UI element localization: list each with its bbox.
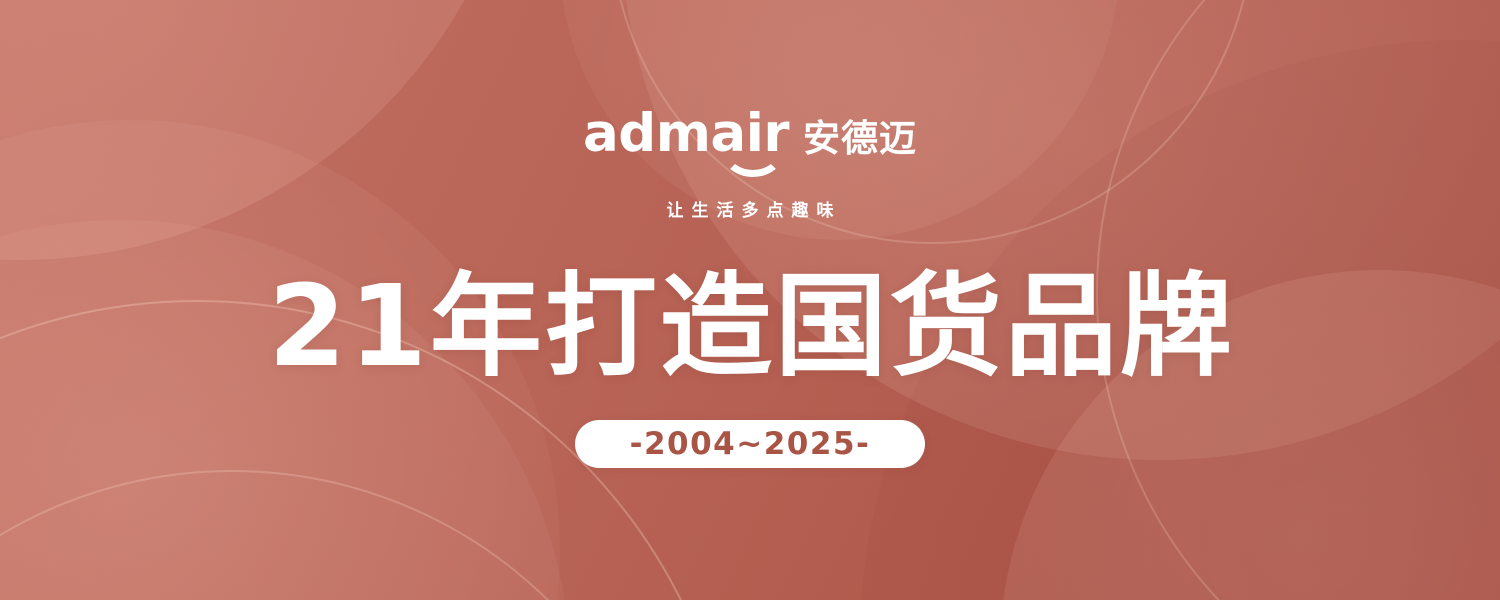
page-title: 21年打造国货品牌 — [265, 271, 1235, 383]
brand-wordmark: admair — [583, 107, 789, 160]
brand-tagline: 让生活多点趣味 — [659, 196, 842, 221]
banner-content: admair 安德迈 让生活多点趣味 21年打造国货品牌 -2004~2025- — [0, 0, 1500, 600]
smile-curve-icon — [722, 151, 784, 177]
brand-chinese-name: 安德迈 — [803, 120, 917, 160]
brand-banner: admair 安德迈 让生活多点趣味 21年打造国货品牌 -2004~2025- — [0, 0, 1500, 600]
date-range-badge: -2004~2025- — [575, 420, 925, 468]
date-range-badge-label: -2004~2025- — [630, 429, 871, 460]
brand-logo: admair 安德迈 — [583, 104, 917, 160]
